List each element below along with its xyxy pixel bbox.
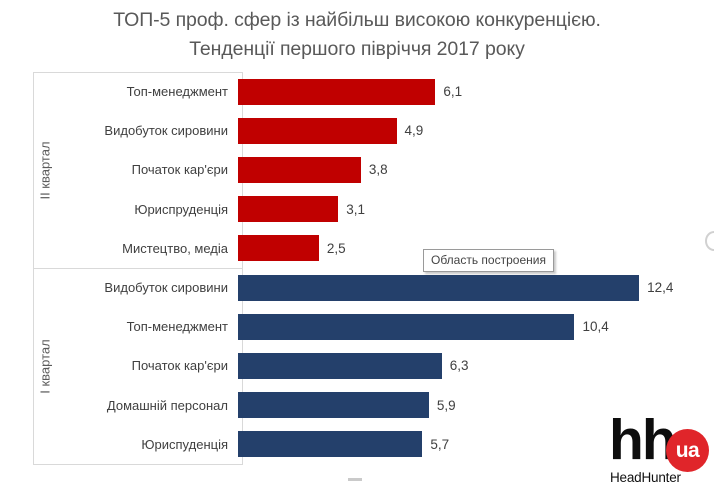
category-label: Видобуток сировини: [57, 123, 238, 138]
bar[interactable]: [238, 235, 319, 261]
bar-track: 6,3: [238, 346, 714, 385]
group-caption-second-quarter: II квартал: [33, 72, 57, 268]
category-label: Домашній персонал: [57, 398, 238, 413]
bar-value-label: 6,3: [450, 358, 469, 373]
bar-track: 10,4: [238, 307, 714, 346]
category-label: Початок кар'єри: [57, 358, 238, 373]
bar[interactable]: [238, 118, 397, 144]
bar-row: Мистецтво, медіа2,5: [57, 229, 714, 268]
bar-row: Юриспруденція3,1: [57, 190, 714, 229]
bar-value-label: 4,9: [405, 123, 424, 138]
clipped-bottom-glyph: [348, 478, 362, 481]
category-label: Видобуток сировини: [57, 280, 238, 295]
bar-row: Початок кар'єри6,3: [57, 346, 714, 385]
bar[interactable]: [238, 392, 429, 418]
category-label: Мистецтво, медіа: [57, 241, 238, 256]
category-label: Топ-менеджмент: [57, 84, 238, 99]
bar[interactable]: [238, 353, 442, 379]
bar[interactable]: [238, 196, 338, 222]
bar[interactable]: [238, 157, 361, 183]
bar-track: 6,1: [238, 72, 714, 111]
bar-value-label: 2,5: [327, 241, 346, 256]
chart-container: ТОП-5 проф. сфер із найбільш високою кон…: [0, 0, 714, 483]
plot-area-tooltip: Область построения: [423, 249, 554, 272]
category-label: Початок кар'єри: [57, 162, 238, 177]
bar-value-label: 3,8: [369, 162, 388, 177]
category-label: Юриспуденція: [57, 437, 238, 452]
bar-value-label: 5,7: [430, 437, 449, 452]
chart-title: ТОП-5 проф. сфер із найбільш високою кон…: [0, 6, 714, 64]
bar-row: Видобуток сировини12,4: [57, 268, 714, 307]
bar-row: Видобуток сировини4,9: [57, 111, 714, 150]
bar-value-label: 3,1: [346, 202, 365, 217]
bar-track: 12,4: [238, 268, 714, 307]
group-caption-second-quarter-label: II квартал: [38, 141, 53, 199]
bar-value-label: 10,4: [582, 319, 608, 334]
chart-title-line-2: Тенденції першого півріччя 2017 року: [0, 35, 714, 64]
bar-track: 3,8: [238, 150, 714, 189]
bar-row: Топ-менеджмент10,4: [57, 307, 714, 346]
bar[interactable]: [238, 314, 574, 340]
axis-bottom-border: [33, 464, 243, 465]
bar[interactable]: [238, 275, 639, 301]
group-caption-first-quarter-label: I квартал: [38, 339, 53, 393]
bar-row: Топ-менеджмент6,1: [57, 72, 714, 111]
bar-track: 4,9: [238, 111, 714, 150]
bar-value-label: 12,4: [647, 280, 673, 295]
headhunter-logo: hh ua HeadHunter: [609, 418, 714, 483]
category-label: Юриспруденція: [57, 202, 238, 217]
bar-value-label: 5,9: [437, 398, 456, 413]
bar[interactable]: [238, 431, 422, 457]
category-label: Топ-менеджмент: [57, 319, 238, 334]
logo-ua-badge: ua: [666, 429, 709, 472]
bar-track: 3,1: [238, 190, 714, 229]
group-caption-first-quarter: I квартал: [33, 268, 57, 464]
logo-hh-mark: hh: [609, 412, 675, 469]
bar-value-label: 6,1: [443, 84, 462, 99]
bar[interactable]: [238, 79, 435, 105]
chart-title-line-1: ТОП-5 проф. сфер із найбільш високою кон…: [0, 6, 714, 35]
bar-row: Початок кар'єри3,8: [57, 150, 714, 189]
